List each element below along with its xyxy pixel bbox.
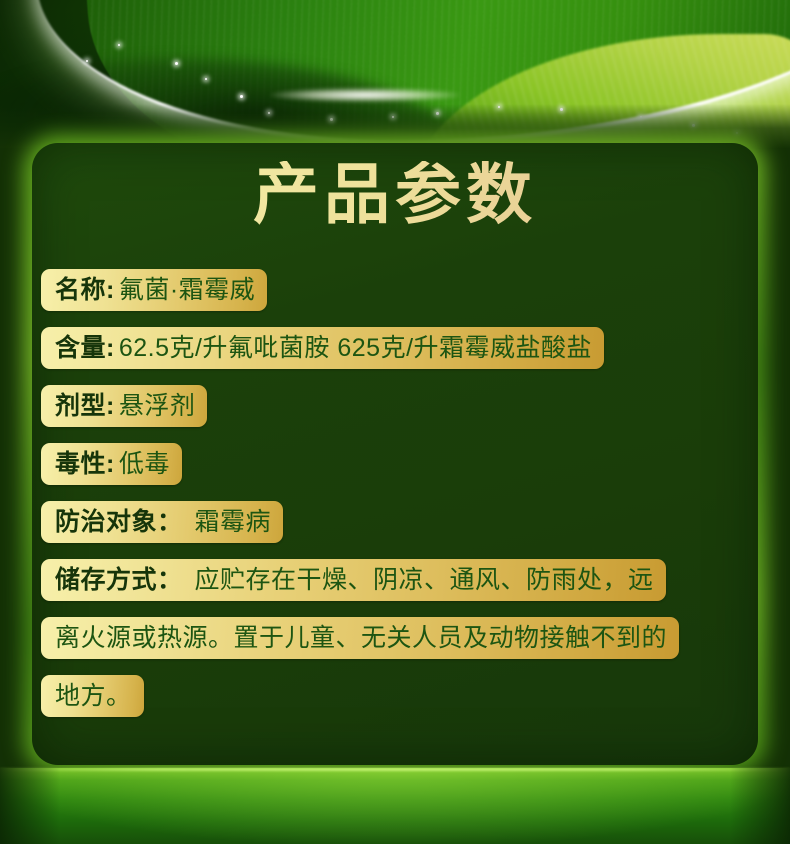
- spec-row-storage-line3: 地方。: [41, 675, 751, 733]
- spec-value: 62.5克/升氟吡菌胺 625克/升霜霉威盐酸盐: [119, 336, 592, 361]
- bottom-band-right-shade: [730, 768, 790, 844]
- spec-row-content: 含量: 62.5克/升氟吡菌胺 625克/升霜霉威盐酸盐: [41, 327, 751, 385]
- spec-pill: 离火源或热源。置于儿童、无关人员及动物接触不到的: [41, 617, 679, 659]
- spec-value: 霜霉病: [195, 510, 272, 535]
- product-spec-page: 产品参数 名称: 氟菌·霜霉威 含量: 62.5克/升氟吡菌胺 625克/升霜霉…: [0, 0, 790, 844]
- page-title: 产品参数: [32, 161, 758, 227]
- spec-pill: 地方。: [41, 675, 144, 717]
- spec-row-storage-line2: 离火源或热源。置于儿童、无关人员及动物接触不到的: [41, 617, 751, 675]
- leaf-banner: [0, 0, 790, 148]
- spec-pill: 毒性: 低毒: [41, 443, 182, 485]
- spec-list: 名称: 氟菌·霜霉威 含量: 62.5克/升氟吡菌胺 625克/升霜霉威盐酸盐 …: [41, 269, 751, 733]
- spec-row-toxicity: 毒性: 低毒: [41, 443, 751, 501]
- spec-label: 防治对象：: [55, 510, 183, 535]
- spec-label: 毒性:: [55, 452, 115, 477]
- spec-row-target: 防治对象： 霜霉病: [41, 501, 751, 559]
- spec-value: 氟菌·霜霉威: [119, 278, 255, 303]
- spec-value: 离火源或热源。置于儿童、无关人员及动物接触不到的: [55, 626, 667, 651]
- light-streak-highlight: [270, 88, 460, 102]
- spec-panel: 产品参数 名称: 氟菌·霜霉威 含量: 62.5克/升氟吡菌胺 625克/升霜霉…: [32, 143, 758, 765]
- bottom-band-left-shade: [0, 768, 60, 844]
- spec-value: 低毒: [119, 452, 170, 477]
- spec-value: 地方。: [55, 684, 132, 709]
- spec-label: 名称:: [55, 278, 115, 303]
- spec-label: 储存方式：: [55, 568, 183, 593]
- sparkle-icon: [86, 60, 88, 62]
- spec-value: 应贮存在干燥、阴凉、通风、防雨处，远: [195, 568, 654, 593]
- spec-pill: 防治对象： 霜霉病: [41, 501, 283, 543]
- spec-value: 悬浮剂: [119, 394, 196, 419]
- spec-label: 含量:: [55, 336, 115, 361]
- spec-label: 剂型:: [55, 394, 115, 419]
- spec-pill: 储存方式： 应贮存在干燥、阴凉、通风、防雨处，远: [41, 559, 666, 601]
- spec-row-formulation: 剂型: 悬浮剂: [41, 385, 751, 443]
- spec-pill: 含量: 62.5克/升氟吡菌胺 625克/升霜霉威盐酸盐: [41, 327, 604, 369]
- sparkle-icon: [175, 62, 178, 65]
- sparkle-icon: [240, 95, 243, 98]
- sparkle-icon: [205, 78, 207, 80]
- spec-pill: 名称: 氟菌·霜霉威: [41, 269, 267, 311]
- spec-pill: 剂型: 悬浮剂: [41, 385, 207, 427]
- spec-row-storage-line1: 储存方式： 应贮存在干燥、阴凉、通风、防雨处，远: [41, 559, 751, 617]
- sparkle-icon: [118, 44, 120, 46]
- spec-row-name: 名称: 氟菌·霜霉威: [41, 269, 751, 327]
- bottom-green-band: [0, 768, 790, 844]
